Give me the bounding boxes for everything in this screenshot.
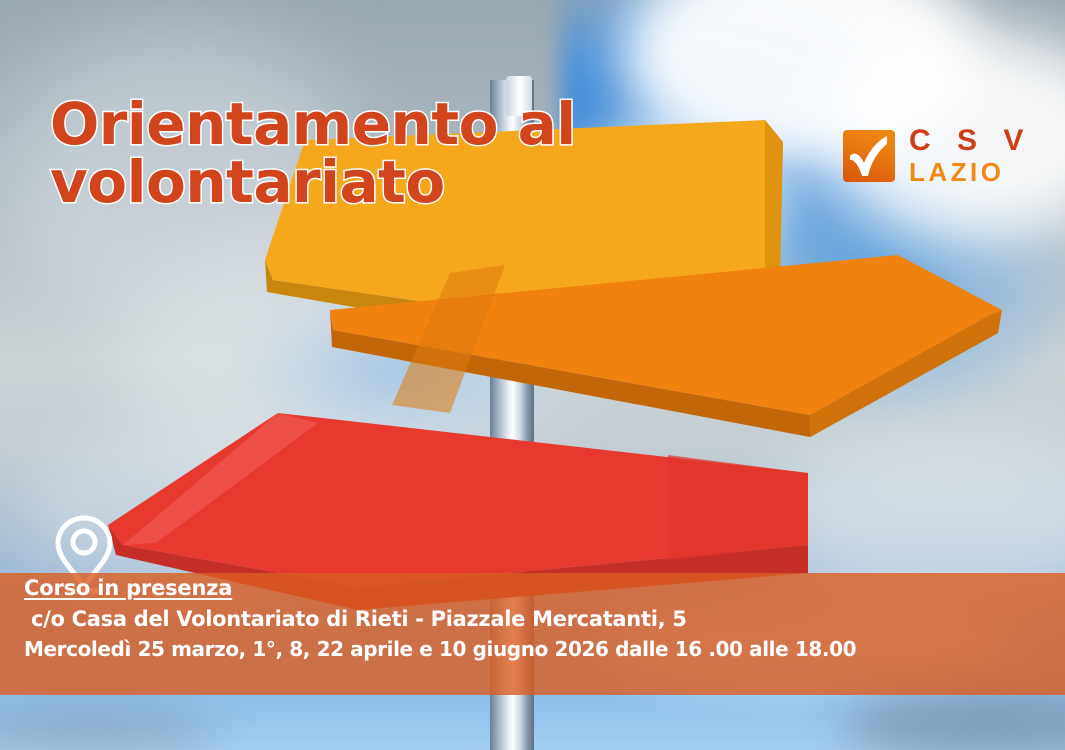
course-venue-label: c/o Casa del Volontariato di Rieti - Pia… [24, 607, 1024, 631]
logo-lazio-text: LAZIO [909, 159, 1032, 185]
course-dates-label: Mercoledì 25 marzo, 1°, 8, 22 aprile e 1… [24, 637, 1024, 661]
event-poster: Orientamento al volontariato C S V LAZIO… [0, 0, 1065, 750]
event-details-text: Corso in presenza c/o Casa del Volontari… [24, 576, 1024, 661]
event-details-banner: Corso in presenza c/o Casa del Volontari… [0, 573, 1065, 695]
page-title: Orientamento al volontariato [50, 95, 576, 211]
csv-lazio-logo[interactable]: C S V LAZIO [843, 126, 1032, 185]
logo-wordmark: C S V LAZIO [909, 126, 1032, 185]
course-format-label: Corso in presenza [24, 576, 1024, 600]
csv-check-mark-icon [843, 130, 895, 182]
logo-csv-text: C S V [909, 126, 1032, 156]
